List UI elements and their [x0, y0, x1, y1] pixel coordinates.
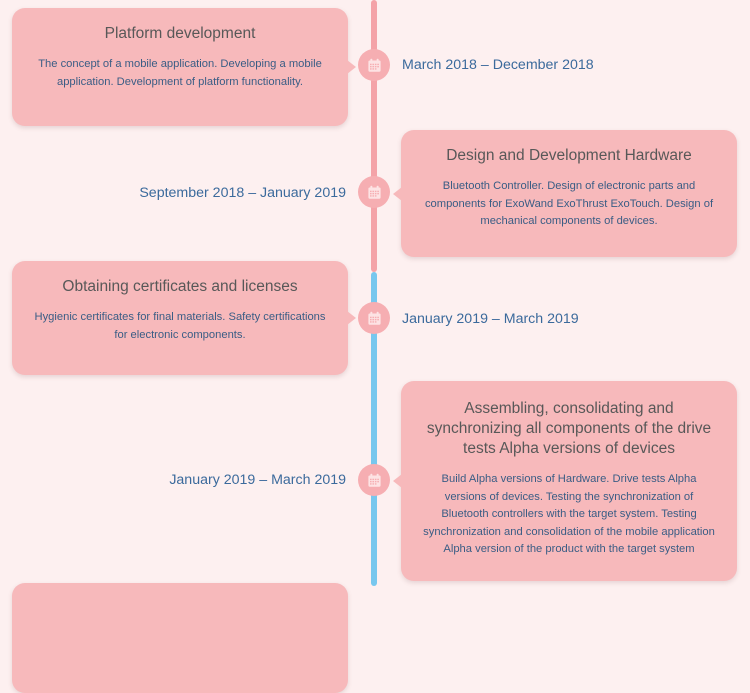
- milestone-marker-3[interactable]: [358, 302, 390, 334]
- card-pointer-4: [393, 474, 402, 488]
- milestone-title-3: Obtaining certificates and licenses: [34, 277, 326, 297]
- milestone-title-1: Platform development: [34, 24, 326, 44]
- milestone-card-1[interactable]: Platform development The concept of a mo…: [12, 8, 348, 126]
- milestone-marker-2[interactable]: [358, 176, 390, 208]
- milestone-card-2[interactable]: Design and Development Hardware Bluetoot…: [401, 130, 737, 257]
- milestone-card-5[interactable]: [12, 583, 348, 693]
- card-pointer-1: [347, 60, 356, 74]
- milestone-card-4[interactable]: Assembling, consolidating and synchroniz…: [401, 381, 737, 581]
- milestone-body-2: Bluetooth Controller. Design of electron…: [423, 178, 715, 230]
- milestone-marker-4[interactable]: [358, 464, 390, 496]
- milestone-title-2: Design and Development Hardware: [423, 146, 715, 166]
- calendar-icon: [367, 311, 382, 326]
- calendar-icon: [367, 473, 382, 488]
- card-pointer-2: [393, 187, 402, 201]
- milestone-marker-1[interactable]: [358, 49, 390, 81]
- milestone-date-1: March 2018 – December 2018: [402, 57, 594, 74]
- milestone-body-1: The concept of a mobile application. Dev…: [34, 56, 326, 91]
- milestone-date-3: January 2019 – March 2019: [402, 311, 579, 328]
- milestone-date-4: January 2019 – March 2019: [169, 472, 346, 489]
- milestone-date-2: September 2018 – January 2019: [139, 185, 346, 202]
- timeline-axis-upper: [371, 0, 377, 272]
- milestone-body-3: Hygienic certificates for final material…: [34, 309, 326, 344]
- milestone-title-4: Assembling, consolidating and synchroniz…: [423, 399, 715, 459]
- milestone-body-4: Build Alpha versions of Hardware. Drive …: [423, 471, 715, 558]
- timeline-root: Platform development The concept of a mo…: [0, 0, 750, 586]
- calendar-icon: [367, 58, 382, 73]
- calendar-icon: [367, 185, 382, 200]
- milestone-card-3[interactable]: Obtaining certificates and licenses Hygi…: [12, 261, 348, 375]
- card-pointer-3: [347, 311, 356, 325]
